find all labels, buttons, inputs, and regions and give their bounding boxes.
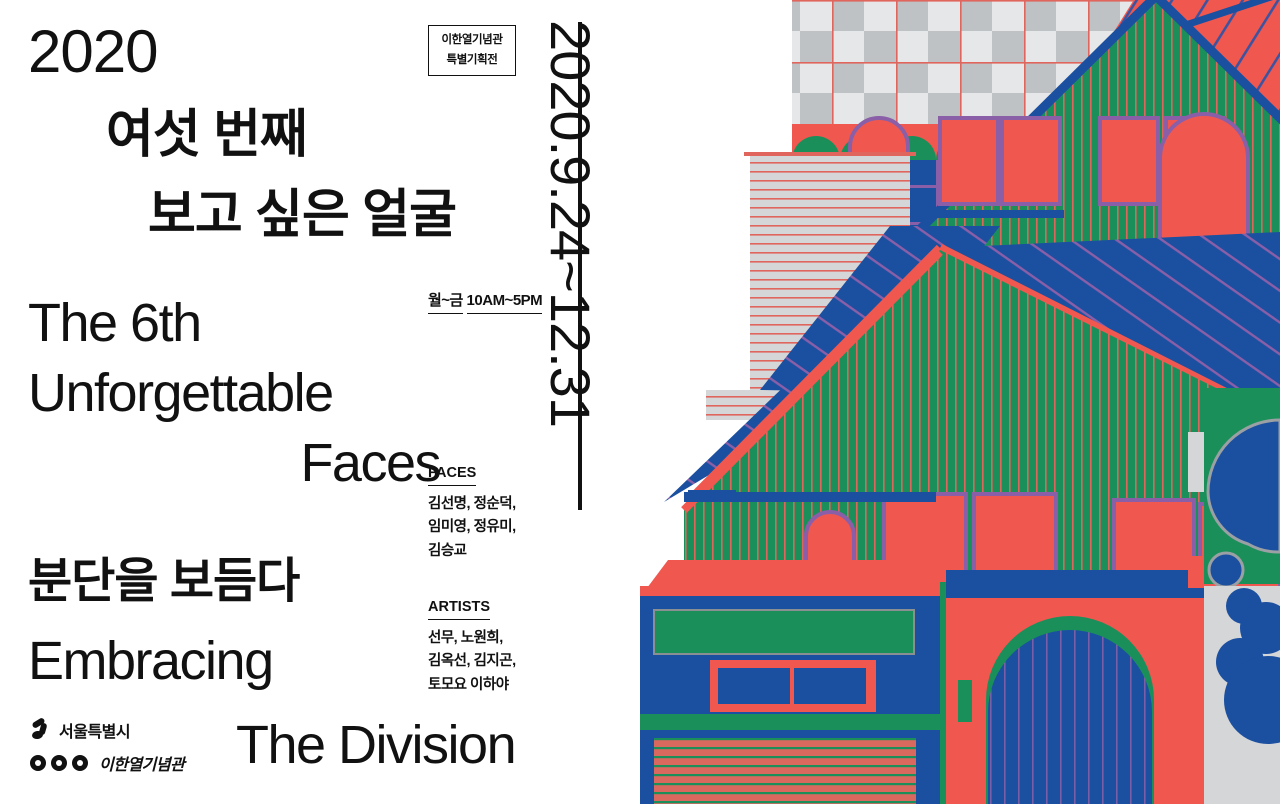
korean-title-line-2: 보고 싶은 얼굴	[148, 188, 456, 243]
mid-sill-rail-center	[736, 492, 936, 502]
artists-heading: ARTISTS	[428, 597, 490, 620]
english-subtitle-line-2: The Division	[236, 718, 515, 772]
artists-names: 선무, 노원희, 김옥선, 김지곤, 토모요 이하야	[428, 627, 516, 697]
logo-memorial: 이한열기념관	[30, 751, 184, 775]
front-green-stripe	[640, 714, 940, 730]
decor-strip-red	[1188, 556, 1204, 588]
garage-louver-door	[654, 738, 916, 804]
artists-line-3: 토모요 이하야	[428, 674, 516, 697]
mid-sill-rail-left	[684, 492, 736, 502]
decor-strip-gray	[1188, 432, 1204, 492]
poster-root: 2020 여섯 번째 보고 싶은 얼굴 The 6th Unforgettabl…	[0, 0, 1280, 804]
faces-line-2: 임미영, 정유미,	[428, 516, 516, 539]
seoul-symbol-icon	[30, 719, 52, 741]
faces-line-1: 김선명, 정순덕,	[428, 493, 516, 516]
gate-slats-blue	[988, 630, 1152, 804]
faces-names: 김선명, 정순덕, 임미영, 정유미, 김승교	[428, 493, 516, 563]
wall-slot-green	[958, 680, 972, 722]
opening-hours: 월~금 10AM~5PM	[428, 290, 542, 314]
logo-group: 서울특별시 이한열기념관	[30, 718, 184, 784]
english-title-line-2: Unforgettable	[28, 364, 498, 422]
window-rect-upper-1	[940, 118, 998, 204]
logo-seoul-label: 서울특별시	[59, 718, 130, 742]
logo-memorial-label: 이한열기념관	[99, 751, 184, 775]
window-arched-upper-2	[1160, 114, 1248, 244]
window-rect-upper-2	[1002, 118, 1060, 204]
exhibition-badge: 이한열기념관 특별기획전	[428, 25, 516, 76]
three-dots-icon	[30, 755, 88, 771]
korean-title-line-1: 여섯 번째	[106, 108, 307, 163]
sign-panel-green	[654, 610, 914, 654]
korean-subtitle: 분단을 보듬다	[28, 558, 299, 606]
faces-section: FACES 김선명, 정순덕, 임미영, 정유미, 김승교	[428, 462, 516, 563]
gate-lintel-blue	[946, 570, 1204, 602]
logo-seoul: 서울특별시	[30, 718, 184, 742]
window-rect-upper-3	[1100, 118, 1158, 204]
window-pane-left	[718, 668, 790, 704]
window-pane-right	[794, 668, 866, 704]
exhibition-date-range: 2020.9.24~12.31	[542, 20, 598, 427]
badge-line-1: 이한열기념관	[431, 31, 513, 51]
artists-line-2: 김옥선, 김지곤,	[428, 650, 516, 673]
badge-line-2: 특별기획전	[431, 51, 513, 71]
faces-line-3: 김승교	[428, 540, 516, 563]
poster-year: 2020	[28, 22, 157, 82]
artists-section: ARTISTS 선무, 노원희, 김옥선, 김지곤, 토모요 이하야	[428, 596, 516, 697]
blob-dot-blue	[1209, 553, 1243, 587]
english-subtitle-line-1: Embracing	[28, 634, 273, 688]
sill-rail-2	[940, 210, 1064, 218]
front-building	[640, 560, 1204, 804]
hours-time: 10AM~5PM	[467, 290, 543, 314]
faces-heading: FACES	[428, 463, 476, 486]
illustration-svg	[640, 0, 1280, 804]
hours-days: 월~금	[428, 290, 463, 314]
artists-line-1: 선무, 노원희,	[428, 627, 516, 650]
house-illustration	[640, 0, 1280, 804]
